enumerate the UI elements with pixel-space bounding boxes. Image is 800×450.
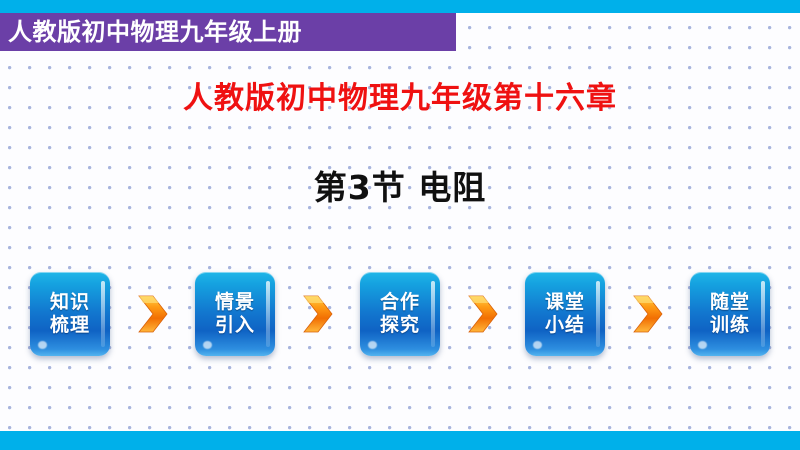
step-button-knowledge-review[interactable]: 知识 梳理: [30, 272, 110, 356]
course-banner-label: 人教版初中物理九年级上册: [0, 20, 302, 44]
page-subtitle: 第3节 电阻: [0, 168, 800, 208]
step-button-cooperative-inquiry[interactable]: 合作 探究: [360, 272, 440, 356]
step-label-line1: 合作: [380, 291, 420, 314]
chevron-right-icon: [132, 289, 174, 339]
lesson-step-flow: 知识 梳理 情景 引入: [30, 264, 770, 364]
step-button-in-class-practice[interactable]: 随堂 训练: [690, 272, 770, 356]
step-label-line1: 随堂: [710, 291, 750, 314]
step-label-line2: 引入: [215, 314, 255, 337]
chevron-right-icon: [297, 289, 339, 339]
dotted-background-pattern: [0, 0, 800, 450]
step-button-scenario-intro[interactable]: 情景 引入: [195, 272, 275, 356]
bottom-cyan-strip: [0, 431, 800, 450]
chevron-right-icon: [627, 289, 669, 339]
step-label-line1: 课堂: [545, 291, 585, 314]
top-cyan-strip: [0, 0, 800, 13]
step-label-line1: 知识: [50, 291, 90, 314]
step-label-line2: 训练: [710, 314, 750, 337]
step-label-line2: 探究: [380, 314, 420, 337]
chevron-right-icon: [462, 289, 504, 339]
step-label-line2: 小结: [545, 314, 585, 337]
step-label-line2: 梳理: [50, 314, 90, 337]
course-banner: 人教版初中物理九年级上册: [0, 13, 456, 51]
page-title: 人教版初中物理九年级第十六章: [0, 81, 800, 117]
step-button-class-summary[interactable]: 课堂 小结: [525, 272, 605, 356]
step-label-line1: 情景: [215, 291, 255, 314]
slide-canvas: 人教版初中物理九年级上册 人教版初中物理九年级第十六章 第3节 电阻 知识 梳理: [0, 0, 800, 450]
